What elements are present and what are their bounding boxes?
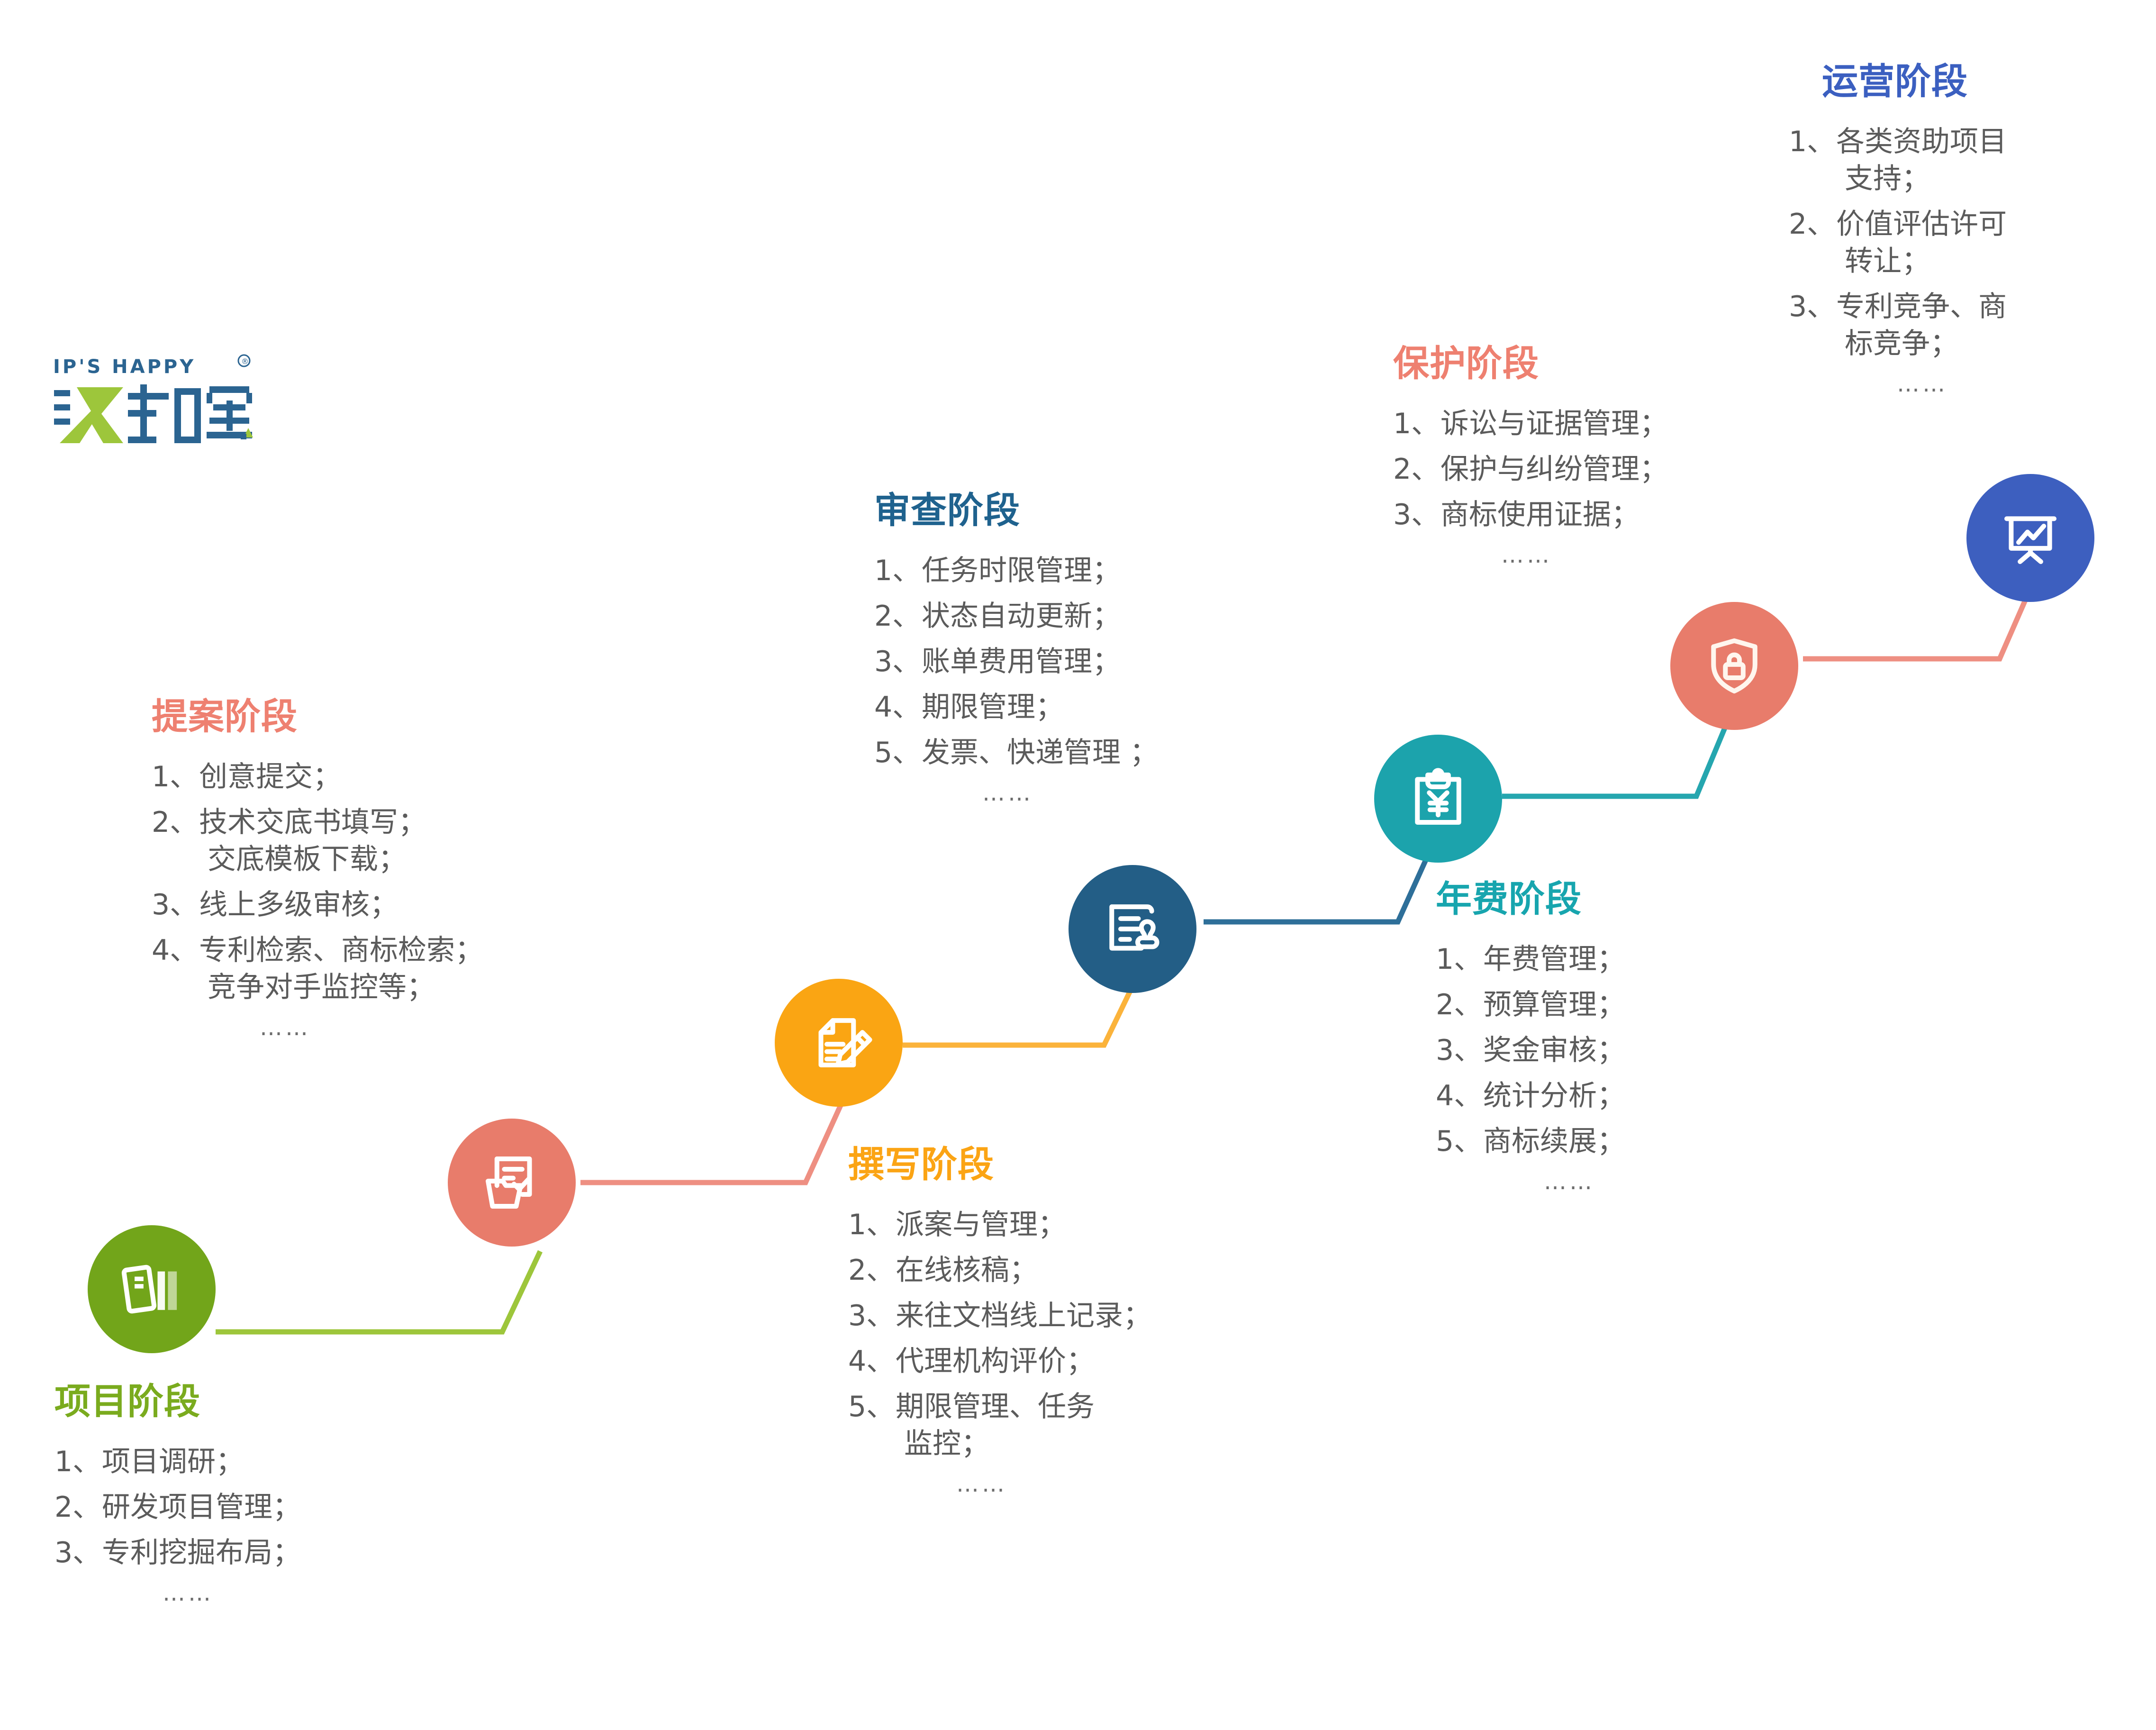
stage-node-project[interactable] — [88, 1225, 216, 1353]
stage-node-drafting[interactable] — [775, 979, 903, 1107]
list-item: 3、商标使用证据； — [1393, 496, 1668, 533]
item-continuation: 支持； — [1789, 160, 2007, 197]
item-text: 派案与管理； — [896, 1208, 1066, 1241]
ellipsis: …… — [1393, 542, 1668, 569]
stage-items-project: 1、项目调研； 2、研发项目管理； 3、专利挖掘布局； — [54, 1443, 301, 1571]
list-item: 2、在线核稿； — [848, 1252, 1151, 1289]
list-item: 2、技术交底书填写；交底模板下载； — [152, 804, 483, 878]
books-icon — [116, 1254, 187, 1325]
stage-block-examination: 审查阶段 1、任务时限管理； 2、状态自动更新； 3、账单费用管理； 4、期限管… — [874, 491, 1158, 807]
stage-block-proposal: 提案阶段 1、创意提交； 2、技术交底书填写；交底模板下载； 3、线上多级审核；… — [152, 697, 483, 1041]
list-item: 4、统计分析； — [1436, 1077, 1625, 1114]
svg-text:®: ® — [241, 357, 249, 366]
item-number: 5、 — [848, 1388, 896, 1425]
list-item: 1、派案与管理； — [848, 1206, 1151, 1243]
stage-title-annual-fee: 年费阶段 — [1436, 879, 1625, 919]
item-text: 奖金审核； — [1483, 1034, 1625, 1067]
item-text: 专利挖掘布局； — [102, 1536, 301, 1569]
list-item: 3、专利竞争、商标竞争； — [1789, 288, 2007, 362]
item-continuation: 交底模板下载； — [152, 841, 483, 878]
ellipsis: …… — [1789, 371, 2007, 398]
item-text: 统计分析； — [1483, 1079, 1625, 1112]
list-item: 5、发票、快递管理 ； — [874, 734, 1158, 771]
item-number: 3、 — [874, 643, 922, 680]
list-item: 3、专利挖掘布局； — [54, 1534, 301, 1571]
item-text: 价值评估许可 — [1836, 208, 2007, 241]
wire-project-proposal — [216, 1251, 540, 1332]
list-item: 3、线上多级审核； — [152, 886, 483, 923]
document-check-folder-icon — [476, 1147, 547, 1218]
presentation-chart-icon — [1995, 502, 2066, 574]
shield-lock-icon — [1699, 630, 1770, 701]
item-number: 1、 — [874, 552, 922, 589]
item-text: 期限管理、任务 — [896, 1390, 1095, 1423]
diagram-canvas: IP'S HAPPY ® — [0, 0, 2156, 1730]
clipboard-yen-icon — [1403, 763, 1474, 834]
item-number: 1、 — [848, 1206, 896, 1243]
wire-examination-annualfee — [1204, 848, 1431, 922]
wire-drafting-examination — [903, 976, 1137, 1045]
list-item: 1、任务时限管理； — [874, 552, 1158, 589]
item-text: 各类资助项目 — [1836, 125, 2007, 158]
stage-node-protection[interactable] — [1670, 602, 1798, 730]
ellipsis: …… — [874, 780, 1158, 807]
stage-block-project: 项目阶段 1、项目调研； 2、研发项目管理； 3、专利挖掘布局； …… — [54, 1382, 301, 1607]
item-number: 3、 — [848, 1297, 896, 1334]
item-continuation: 监控； — [848, 1425, 1151, 1462]
wire-annualfee-protection — [1502, 711, 1732, 796]
stage-title-operation: 运营阶段 — [1789, 62, 2007, 101]
item-number: 2、 — [848, 1252, 896, 1289]
item-number: 3、 — [1393, 496, 1440, 533]
item-continuation: 竞争对手监控等； — [152, 969, 483, 1006]
list-item: 2、研发项目管理； — [54, 1489, 301, 1526]
item-number: 1、 — [1393, 405, 1440, 442]
list-item: 4、期限管理； — [874, 689, 1158, 726]
svg-text:IP'S HAPPY: IP'S HAPPY — [53, 356, 196, 378]
stage-items-annual-fee: 1、年费管理； 2、预算管理； 3、奖金审核； 4、统计分析； 5、商标续展； — [1436, 941, 1625, 1160]
stage-node-examination[interactable] — [1069, 865, 1196, 993]
item-text: 年费管理； — [1483, 943, 1625, 976]
item-number: 1、 — [152, 758, 199, 795]
item-text: 状态自动更新； — [922, 600, 1121, 633]
list-item: 1、项目调研； — [54, 1443, 301, 1480]
list-item: 1、年费管理； — [1436, 941, 1625, 978]
ellipsis: …… — [848, 1471, 1151, 1498]
item-text: 保护与纠纷管理； — [1440, 453, 1668, 486]
item-continuation: 转让； — [1789, 243, 2007, 280]
item-text: 线上多级审核； — [199, 888, 398, 921]
item-text: 任务时限管理； — [922, 554, 1121, 587]
list-item: 3、奖金审核； — [1436, 1032, 1625, 1069]
stage-node-proposal[interactable] — [448, 1119, 576, 1247]
stage-block-protection: 保护阶段 1、诉讼与证据管理； 2、保护与纠纷管理； 3、商标使用证据； …… — [1393, 344, 1668, 569]
list-item: 2、价值评估许可转让； — [1789, 206, 2007, 280]
wire-protection-operation — [1803, 583, 2033, 659]
item-number: 2、 — [152, 804, 199, 841]
stage-items-drafting: 1、派案与管理； 2、在线核稿； 3、来往文档线上记录； 4、代理机构评价； 5… — [848, 1206, 1151, 1462]
item-number: 3、 — [54, 1534, 102, 1571]
ellipsis: …… — [1436, 1168, 1625, 1196]
item-text: 在线核稿； — [896, 1254, 1038, 1287]
item-text: 发票、快递管理 ； — [922, 736, 1158, 769]
item-number: 5、 — [874, 734, 922, 771]
stage-items-examination: 1、任务时限管理； 2、状态自动更新； 3、账单费用管理； 4、期限管理； 5、… — [874, 552, 1158, 771]
stage-title-examination: 审查阶段 — [874, 491, 1158, 530]
stage-items-operation: 1、各类资助项目支持； 2、价值评估许可转让； 3、专利竞争、商标竞争； — [1789, 123, 2007, 362]
stage-title-project: 项目阶段 — [54, 1382, 301, 1421]
item-text: 账单费用管理； — [922, 645, 1121, 678]
list-item: 4、专利检索、商标检索；竞争对手监控等； — [152, 932, 483, 1006]
stage-items-proposal: 1、创意提交； 2、技术交底书填写；交底模板下载； 3、线上多级审核； 4、专利… — [152, 758, 483, 1006]
list-item: 3、来往文档线上记录； — [848, 1297, 1151, 1334]
item-number: 2、 — [1789, 206, 1836, 243]
item-text: 来往文档线上记录； — [896, 1299, 1151, 1332]
item-text: 创意提交； — [199, 760, 341, 793]
item-number: 4、 — [848, 1343, 896, 1380]
list-item: 1、诉讼与证据管理； — [1393, 405, 1668, 442]
item-number: 2、 — [54, 1489, 102, 1526]
stage-block-annual-fee: 年费阶段 1、年费管理； 2、预算管理； 3、奖金审核； 4、统计分析； 5、商… — [1436, 879, 1625, 1195]
list-item: 1、各类资助项目支持； — [1789, 123, 2007, 197]
list-item: 2、状态自动更新； — [874, 598, 1158, 635]
item-text: 专利检索、商标检索； — [199, 934, 483, 967]
stage-title-protection: 保护阶段 — [1393, 344, 1668, 383]
stage-title-proposal: 提案阶段 — [152, 697, 483, 737]
brand-logo: IP'S HAPPY ® — [52, 353, 256, 453]
list-item: 5、商标续展； — [1436, 1123, 1625, 1160]
list-item: 2、预算管理； — [1436, 986, 1625, 1023]
stage-title-drafting: 撰写阶段 — [848, 1145, 1151, 1184]
ellipsis: …… — [54, 1580, 301, 1607]
item-number: 4、 — [874, 689, 922, 726]
item-text: 技术交底书填写； — [199, 806, 426, 839]
item-number: 2、 — [874, 598, 922, 635]
item-continuation: 标竞争； — [1789, 325, 2007, 362]
stage-items-protection: 1、诉讼与证据管理； 2、保护与纠纷管理； 3、商标使用证据； — [1393, 405, 1668, 533]
list-item: 1、创意提交； — [152, 758, 483, 795]
item-text: 预算管理； — [1483, 988, 1625, 1021]
item-number: 3、 — [152, 886, 199, 923]
item-text: 商标续展； — [1483, 1125, 1625, 1158]
item-number: 4、 — [152, 932, 199, 969]
item-number: 1、 — [54, 1443, 102, 1480]
stage-node-operation[interactable] — [1966, 474, 2094, 602]
item-number: 3、 — [1436, 1032, 1483, 1069]
wire-proposal-drafting — [580, 1104, 841, 1183]
stage-block-operation: 运营阶段 1、各类资助项目支持； 2、价值评估许可转让； 3、专利竞争、商标竞争… — [1789, 62, 2007, 398]
list-item: 2、保护与纠纷管理； — [1393, 451, 1668, 488]
item-text: 商标使用证据； — [1440, 498, 1640, 531]
item-text: 代理机构评价； — [896, 1345, 1095, 1378]
stage-block-drafting: 撰写阶段 1、派案与管理； 2、在线核稿； 3、来往文档线上记录； 4、代理机构… — [848, 1145, 1151, 1498]
item-number: 4、 — [1436, 1077, 1483, 1114]
item-text: 研发项目管理； — [102, 1491, 301, 1524]
document-pencil-icon — [803, 1007, 874, 1078]
item-number: 1、 — [1789, 123, 1836, 160]
item-text: 诉讼与证据管理； — [1440, 407, 1668, 440]
item-number: 5、 — [1436, 1123, 1483, 1160]
stage-node-annual-fee[interactable] — [1374, 735, 1502, 863]
list-item: 3、账单费用管理； — [874, 643, 1158, 680]
item-number: 2、 — [1393, 451, 1440, 488]
item-text: 项目调研； — [102, 1445, 244, 1478]
ellipsis: …… — [152, 1014, 483, 1042]
list-item: 5、期限管理、任务监控； — [848, 1388, 1151, 1462]
list-item: 4、代理机构评价； — [848, 1343, 1151, 1380]
document-stamp-icon — [1097, 893, 1168, 965]
item-number: 2、 — [1436, 986, 1483, 1023]
item-number: 3、 — [1789, 288, 1836, 325]
item-text: 专利竞争、商 — [1836, 290, 2007, 323]
item-text: 期限管理； — [922, 691, 1064, 724]
item-number: 1、 — [1436, 941, 1483, 978]
